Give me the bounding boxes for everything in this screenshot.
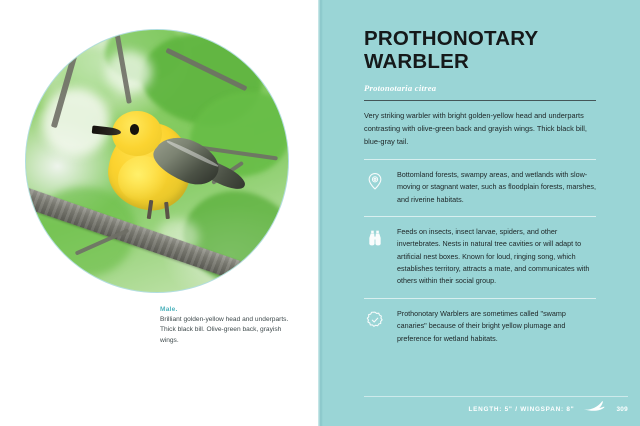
fact-text: Prothonotary Warblers are sometimes call… <box>397 308 596 345</box>
right-page: PROTHONOTARY WARBLER Protonotaria citrea… <box>318 0 640 426</box>
bird-photo-container <box>26 30 288 292</box>
warbler-illustration <box>89 103 236 224</box>
field-guide-spread: Male. Brilliant golden-yellow head and u… <box>0 0 640 426</box>
page-title: PROTHONOTARY WARBLER <box>364 28 596 74</box>
flying-bird-logo-icon <box>584 400 606 418</box>
page-footer: LENGTH: 5" / WINGSPAN: 8" 309 <box>364 396 628 418</box>
photo-caption: Male. Brilliant golden-yellow head and u… <box>160 306 300 346</box>
caption-heading: Male. <box>160 306 300 313</box>
fact-list: Bottomland forests, swampy areas, and we… <box>364 159 596 355</box>
measurements-text: LENGTH: 5" / WINGSPAN: 8" <box>468 406 574 413</box>
binoculars-icon <box>364 227 386 249</box>
species-description: Very striking warbler with bright golden… <box>364 110 596 149</box>
fact-text: Bottomland forests, swampy areas, and we… <box>397 169 596 206</box>
fact-text: Feeds on insects, insect larvae, spiders… <box>397 226 596 288</box>
page-number: 309 <box>616 406 628 413</box>
title-divider <box>364 100 596 101</box>
location-pin-icon <box>364 170 386 192</box>
species-content: PROTHONOTARY WARBLER Protonotaria citrea… <box>364 28 596 355</box>
fact-behavior: Feeds on insects, insect larvae, spiders… <box>364 216 596 298</box>
check-badge-icon <box>364 309 386 331</box>
footer-content: LENGTH: 5" / WINGSPAN: 8" 309 <box>468 400 628 418</box>
scientific-name: Protonotaria citrea <box>364 83 596 93</box>
bird-photo <box>26 30 288 292</box>
left-page: Male. Brilliant golden-yellow head and u… <box>0 0 318 426</box>
page-gutter <box>318 0 323 426</box>
footer-divider <box>364 396 628 397</box>
fact-habitat: Bottomland forests, swampy areas, and we… <box>364 159 596 216</box>
caption-body: Brilliant golden-yellow head and underpa… <box>160 315 300 346</box>
fact-trivia: Prothonotary Warblers are sometimes call… <box>364 298 596 355</box>
